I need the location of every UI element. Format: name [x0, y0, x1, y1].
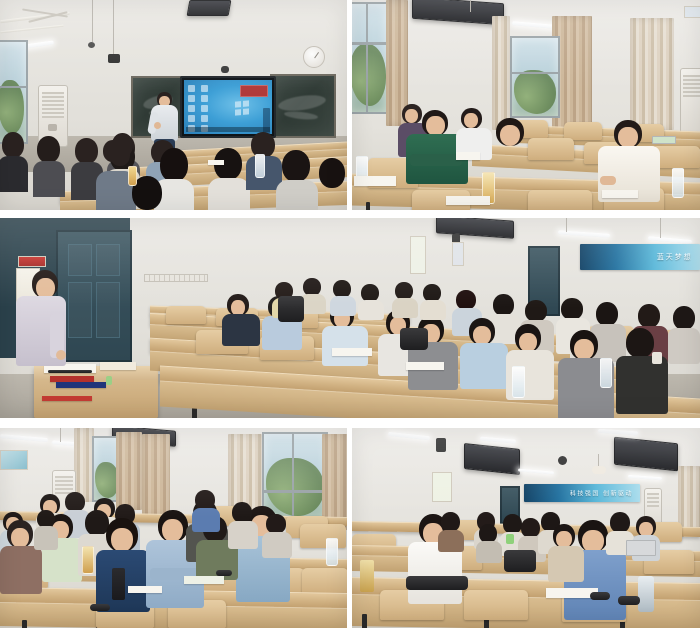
torso [668, 328, 700, 364]
ac-grill [683, 75, 700, 97]
attendee [358, 284, 384, 318]
bag [406, 576, 468, 590]
water-bottle [672, 168, 684, 198]
seat-back [300, 524, 346, 548]
head [195, 490, 215, 510]
head [282, 150, 310, 182]
torso [330, 296, 356, 316]
foliage [352, 44, 386, 106]
wall-switch-plate [144, 274, 208, 282]
wall-artwork [0, 450, 28, 470]
panel-bottom-right: 科技强国 创新驱动 [352, 428, 700, 628]
head [319, 158, 345, 188]
head [2, 132, 24, 158]
papers [446, 196, 490, 205]
attendee [476, 524, 502, 560]
pendant-rod [660, 218, 661, 238]
lecture-hall-window [510, 36, 560, 118]
attendee [438, 512, 464, 548]
torso [460, 343, 508, 389]
ac-grill [42, 92, 64, 118]
door-poster [18, 256, 46, 267]
ceiling-camera [88, 42, 95, 48]
audience-member [276, 150, 316, 210]
window-mullion [292, 434, 294, 518]
cup [506, 534, 514, 544]
pendant-rod [92, 0, 93, 42]
torso [322, 326, 368, 366]
torso [222, 314, 260, 346]
chalk-mark [284, 110, 319, 121]
wall-clock [303, 46, 325, 68]
torso [33, 161, 65, 197]
window-mullion [512, 72, 558, 74]
smart-board-screen [184, 80, 272, 134]
blackboard-right [270, 74, 336, 138]
window-mullion [366, 4, 368, 112]
attendee [460, 318, 506, 388]
red-book [42, 396, 92, 401]
papers [406, 362, 444, 370]
wall-banner: 蓝天梦想 [580, 244, 700, 270]
door-panel [96, 282, 120, 338]
hand [56, 350, 66, 360]
torso [420, 300, 446, 320]
foliage [514, 70, 556, 114]
classroom-window [0, 40, 28, 144]
notebook [354, 176, 396, 186]
phone [618, 596, 640, 605]
head [266, 514, 286, 534]
papers [128, 586, 162, 593]
water-bottle [512, 366, 525, 398]
head [525, 300, 547, 322]
tumbler [638, 576, 654, 612]
desk-leg [362, 614, 367, 628]
papers [602, 190, 638, 198]
observer [598, 120, 660, 200]
head [596, 302, 618, 326]
water-bottle [600, 358, 612, 388]
marker [106, 376, 112, 385]
phone [90, 604, 110, 611]
desktop-icons [188, 85, 210, 132]
lecture-hall-window [352, 2, 388, 114]
hand [600, 176, 616, 185]
pendant-rod [60, 428, 61, 442]
head [232, 502, 252, 523]
face [618, 127, 638, 148]
backpack [278, 296, 304, 322]
panel-top-left [0, 0, 347, 210]
thermos [360, 560, 374, 592]
handout [208, 160, 224, 165]
curtain [74, 428, 94, 502]
cup [652, 352, 662, 364]
panel-middle-wide: 蓝天梦想 [0, 218, 700, 418]
torso [0, 546, 42, 594]
face [464, 113, 478, 128]
head [626, 328, 654, 358]
window-mullion [0, 86, 26, 88]
handbag [504, 550, 536, 572]
hand [154, 122, 161, 129]
windows-logo-icon [235, 100, 249, 115]
seat-back [464, 590, 528, 620]
torso [392, 298, 418, 318]
chalk-mark [277, 93, 326, 114]
attendee [262, 514, 292, 556]
head [561, 298, 583, 320]
photo-collage: 蓝天梦想 [0, 0, 700, 640]
head [456, 290, 476, 310]
drink-bottle [128, 166, 137, 186]
wall-banner: 科技强国 创新驱动 [524, 484, 640, 502]
head [75, 138, 98, 164]
drink-bottle [82, 546, 94, 574]
thermos [112, 568, 125, 600]
wall-sign [684, 6, 700, 18]
face [574, 339, 594, 360]
torso [192, 508, 220, 532]
notebook [456, 152, 480, 160]
curtain [492, 16, 510, 130]
foliage [0, 80, 24, 134]
screen-tile [240, 85, 268, 97]
attendee [408, 316, 456, 388]
papers [332, 348, 372, 356]
wall-notice [432, 472, 452, 502]
audience-member [315, 158, 347, 210]
face [500, 125, 520, 146]
seat-back [166, 306, 206, 324]
head [37, 136, 60, 163]
pendant-rod [470, 0, 471, 12]
window-mullion [352, 42, 386, 45]
pendant-rod [113, 0, 114, 54]
attendee [392, 282, 418, 316]
torso [616, 356, 668, 414]
ceiling-speaker [436, 438, 446, 452]
window-mullion [264, 490, 326, 493]
torso [262, 532, 292, 558]
attendee [228, 502, 258, 546]
attendee [668, 306, 700, 362]
ac-panel [48, 124, 57, 131]
audience-member [34, 136, 64, 196]
attendee [420, 284, 446, 318]
laptop [626, 540, 656, 556]
head [65, 492, 85, 512]
pendant-lamp [592, 466, 606, 474]
curtain [630, 18, 674, 130]
banner-text: 蓝天梦想 [657, 252, 693, 262]
ceiling-speaker [558, 456, 567, 465]
pendant-rod [566, 218, 567, 232]
door-panel [68, 282, 92, 338]
attendee [330, 280, 356, 314]
banner-text: 科技强国 创新驱动 [570, 489, 633, 498]
attendee [616, 328, 666, 412]
head [673, 306, 695, 330]
torso [438, 530, 464, 552]
attendee [222, 294, 258, 344]
backpack [400, 328, 428, 350]
projector-mount [108, 54, 120, 63]
face [426, 116, 445, 136]
attendee [548, 524, 582, 580]
head [638, 304, 660, 328]
arm-crossed [410, 154, 462, 166]
torso [548, 546, 584, 582]
torso [34, 526, 58, 550]
torso [476, 541, 502, 563]
torso [0, 156, 28, 192]
ceiling-camera [221, 66, 229, 73]
papers [100, 362, 136, 370]
audience-member [208, 148, 248, 210]
audience-member [0, 132, 28, 192]
water-bottle [326, 538, 338, 566]
attendee [34, 510, 58, 548]
wall-notice [452, 242, 464, 266]
ceiling-monitor [187, 0, 232, 16]
desk-leg [366, 202, 370, 210]
head [493, 294, 514, 316]
face [111, 528, 133, 552]
phone [590, 592, 610, 600]
torso [208, 178, 250, 210]
door-panel [96, 244, 120, 276]
desk-leg [22, 620, 27, 628]
ac-grill [647, 493, 660, 507]
face [162, 519, 183, 542]
face [11, 528, 29, 548]
torso [358, 300, 384, 320]
door-panel [68, 244, 92, 276]
attendee [192, 490, 220, 530]
teacher-standing [14, 270, 70, 390]
panel-bottom-left [0, 428, 347, 628]
water-bottle [255, 154, 265, 178]
head [441, 512, 460, 532]
panel-top-right [352, 0, 700, 210]
head [610, 512, 630, 533]
wall-notice [410, 236, 426, 274]
smart-board [180, 76, 276, 138]
curtain [142, 434, 170, 516]
torso [228, 521, 258, 549]
torso [276, 180, 318, 210]
papers [184, 576, 224, 584]
